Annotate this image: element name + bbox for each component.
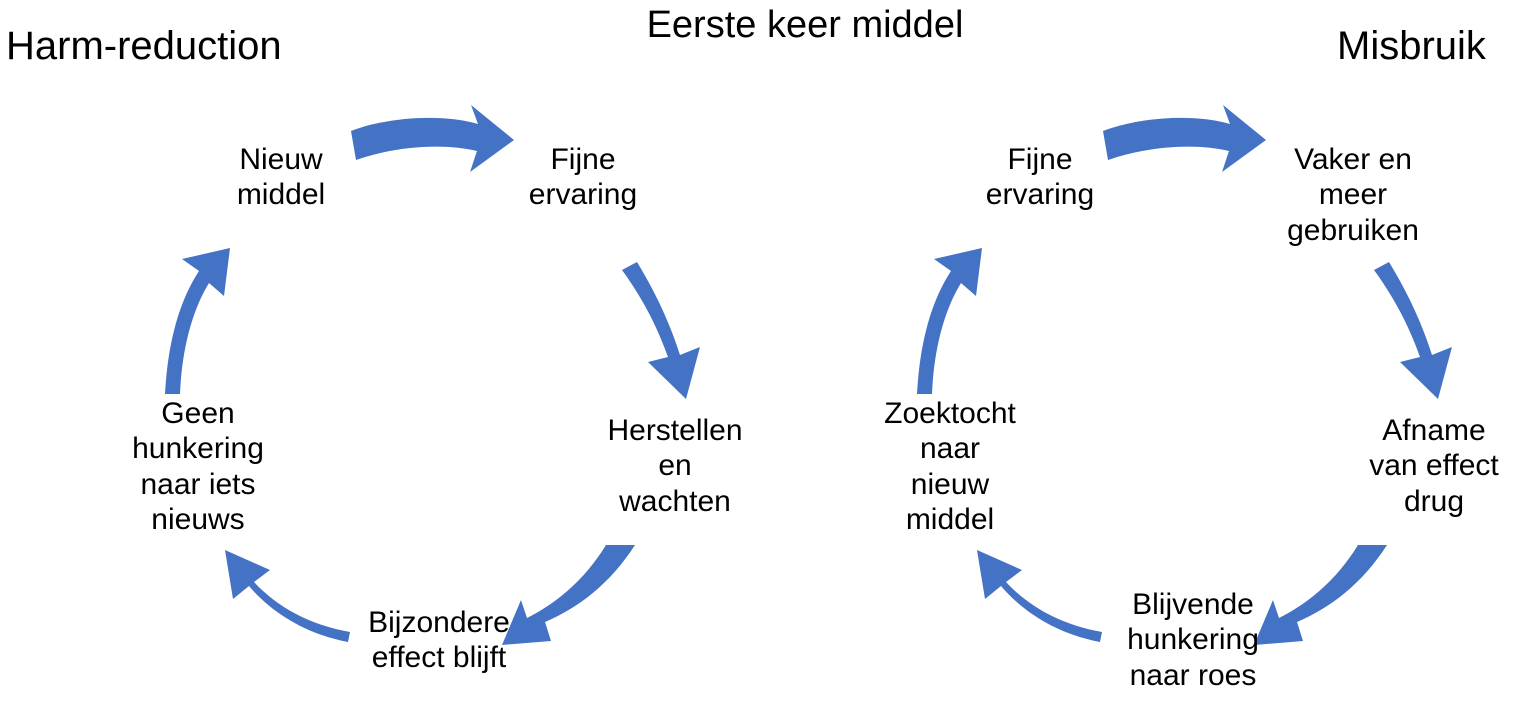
- left-node-geen-hunkering-line-1: Geen: [103, 396, 293, 431]
- left-node-herstellen-line-3: wachten: [575, 484, 775, 519]
- left-node-bijzondere-line-1: Bijzondere: [334, 605, 544, 640]
- arrow-zoektocht-to-fijne: [917, 248, 982, 394]
- heading-center-line-1: Eerste keer: [647, 4, 841, 46]
- right-node-vaker-en-meer-gebruiken: Vaker en meer gebruiken: [1258, 142, 1448, 248]
- left-node-bijzondere-effect-blijft: Bijzondere effect blijft: [334, 605, 544, 676]
- left-node-geen-hunkering-line-4: nieuws: [103, 502, 293, 537]
- left-node-geen-hunkering-line-2: hunkering: [103, 431, 293, 466]
- right-node-vaker-line-2: meer: [1258, 177, 1448, 212]
- left-node-nieuw-middel-line-1: Nieuw: [196, 142, 366, 177]
- right-node-blijvende-line-3: naar roes: [1098, 658, 1288, 693]
- arrow-blijvende-to-zoektocht: [977, 550, 1102, 642]
- right-node-afname-van-effect-drug: Afname van effect drug: [1344, 413, 1524, 519]
- left-node-herstellen-line-1: Herstellen: [575, 413, 775, 448]
- left-node-nieuw-middel-line-2: middel: [196, 177, 366, 212]
- arrow-geen-hunkering-to-nieuw: [165, 248, 230, 394]
- right-node-zoektocht-naar-nieuw-middel: Zoektocht naar nieuw middel: [855, 396, 1045, 538]
- left-node-nieuw-middel: Nieuw middel: [196, 142, 366, 213]
- diagram-canvas: Harm-reduction Eerste keer middel Misbru…: [0, 0, 1536, 708]
- right-node-zoektocht-line-2: naar: [855, 431, 1045, 466]
- right-node-blijvende-line-1: Blijvende: [1098, 587, 1288, 622]
- left-node-geen-hunkering-naar-iets-nieuws: Geen hunkering naar iets nieuws: [103, 396, 293, 538]
- right-node-blijvende-hunkering-naar-roes: Blijvende hunkering naar roes: [1098, 587, 1288, 693]
- arrow-fijne-to-herstellen: [622, 262, 700, 399]
- arrow-nieuw-to-fijne: [351, 105, 514, 172]
- heading-eerste-keer-middel: Eerste keer middel: [640, 4, 970, 47]
- heading-harm-reduction: Harm-reduction: [6, 24, 282, 69]
- right-node-fijne-ervaring-line-2: ervaring: [950, 177, 1130, 212]
- left-node-herstellen-en-wachten: Herstellen en wachten: [575, 413, 775, 519]
- left-node-bijzondere-line-2: effect blijft: [334, 640, 544, 675]
- heading-center-line-2: middel: [851, 4, 963, 46]
- left-node-fijne-ervaring-line-1: Fijne: [498, 142, 668, 177]
- right-node-fijne-ervaring-line-1: Fijne: [950, 142, 1130, 177]
- arrow-vaker-to-afname: [1374, 262, 1452, 399]
- right-node-blijvende-line-2: hunkering: [1098, 622, 1288, 657]
- heading-misbruik: Misbruik: [1337, 24, 1486, 69]
- right-node-afname-line-3: drug: [1344, 484, 1524, 519]
- left-node-geen-hunkering-line-3: naar iets: [103, 467, 293, 502]
- left-node-fijne-ervaring: Fijne ervaring: [498, 142, 668, 213]
- arrow-layer: [0, 0, 1536, 708]
- left-node-herstellen-line-2: en: [575, 448, 775, 483]
- left-node-fijne-ervaring-line-2: ervaring: [498, 177, 668, 212]
- right-node-zoektocht-line-3: nieuw: [855, 467, 1045, 502]
- right-node-fijne-ervaring: Fijne ervaring: [950, 142, 1130, 213]
- right-node-zoektocht-line-1: Zoektocht: [855, 396, 1045, 431]
- right-node-vaker-line-1: Vaker en: [1258, 142, 1448, 177]
- arrow-bijzondere-to-geen-hunkering: [225, 550, 350, 642]
- right-node-zoektocht-line-4: middel: [855, 502, 1045, 537]
- right-node-vaker-line-3: gebruiken: [1258, 213, 1448, 248]
- right-node-afname-line-1: Afname: [1344, 413, 1524, 448]
- right-node-afname-line-2: van effect: [1344, 448, 1524, 483]
